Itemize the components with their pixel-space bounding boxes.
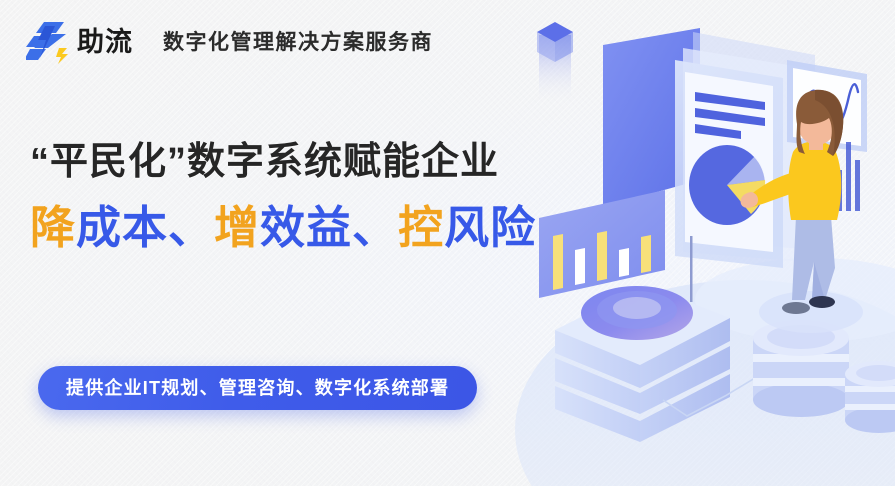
- headline-word-zeng: 增: [214, 202, 260, 253]
- database-small: [845, 361, 895, 433]
- server-top-disc: [581, 286, 693, 340]
- headline-word-kong: 控: [398, 202, 444, 253]
- small-cube-icon: [537, 22, 573, 105]
- headline-word-xiaoyi: 效益、: [260, 202, 398, 253]
- services-cta-pill[interactable]: 提供企业IT规划、管理咨询、数字化系统部署: [38, 366, 477, 410]
- promo-banner: 助流 数字化管理解决方案服务商 “平民化”数字系统赋能企业 降成本、增效益、控风…: [0, 0, 895, 486]
- headline-block: “平民化”数字系统赋能企业 降成本、增效益、控风险: [30, 140, 536, 253]
- headline-word-jiang: 降: [30, 202, 76, 253]
- brand-header: 助流 数字化管理解决方案服务商: [26, 20, 433, 64]
- database-large: [753, 320, 849, 417]
- zhuliu-bolt-logo-icon: [26, 20, 72, 64]
- data-dashboard-illustration: [515, 0, 895, 486]
- headline-primary: “平民化”数字系统赋能企业: [30, 140, 536, 186]
- headline-word-fengxian: 风险: [444, 202, 536, 253]
- bar-chart-panel: [539, 190, 693, 302]
- pie-chart: [689, 145, 765, 225]
- headline-word-chengben: 成本、: [76, 202, 214, 253]
- headline-secondary: 降成本、增效益、控风险: [30, 202, 536, 254]
- brand-tagline: 数字化管理解决方案服务商: [163, 32, 433, 53]
- services-cta-label: 提供企业IT规划、管理咨询、数字化系统部署: [66, 379, 449, 397]
- logo-wordmark: 助流: [77, 29, 133, 56]
